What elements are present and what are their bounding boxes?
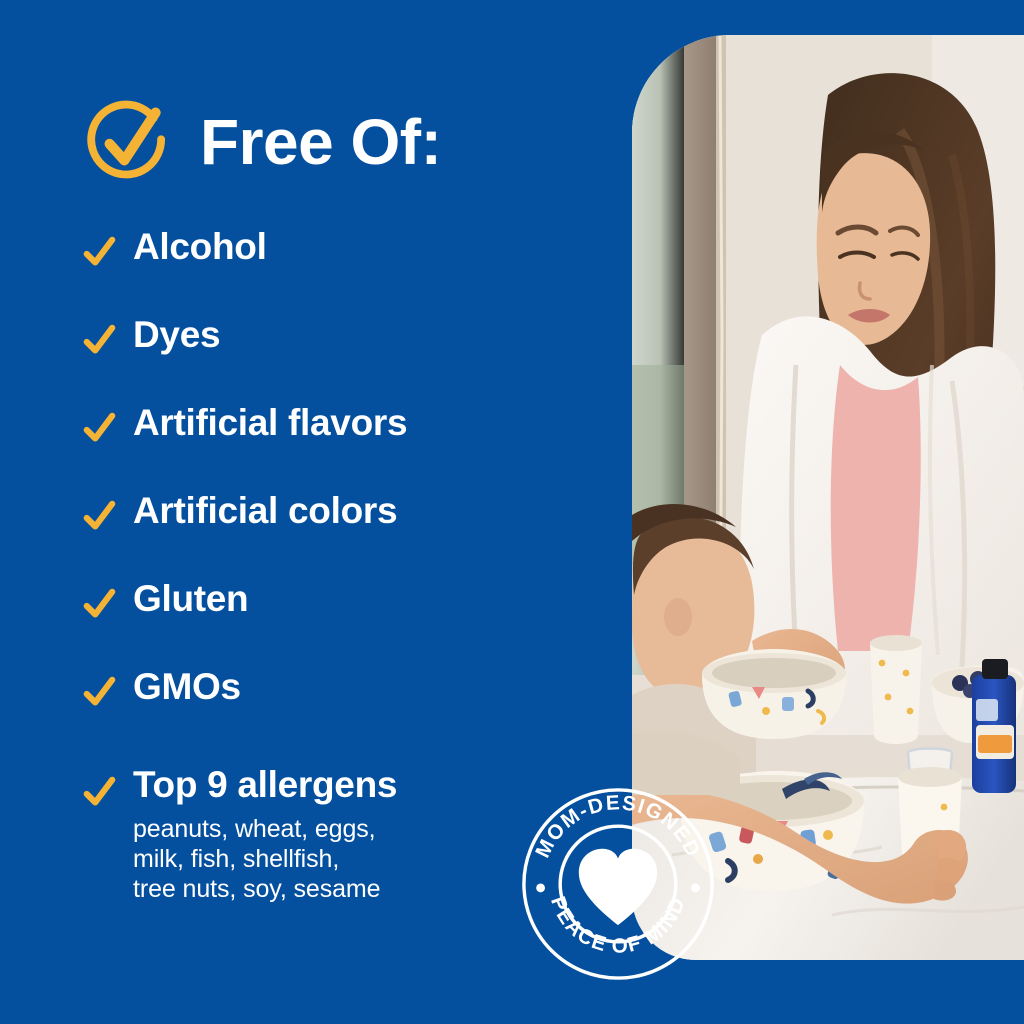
allergens-label: Top 9 allergens: [133, 764, 397, 806]
list-item-label: Artificial flavors: [133, 402, 407, 444]
list-item-label: Dyes: [133, 314, 220, 356]
check-icon: [82, 776, 116, 810]
free-of-list: Alcohol Dyes Artificial flavors Artifici…: [78, 232, 618, 770]
check-icon: [82, 324, 116, 358]
badge-seal: MOM-DESIGNED PEACE OF MIND: [520, 786, 716, 982]
list-item-label: Gluten: [133, 578, 248, 620]
list-item: Artificial flavors: [78, 408, 618, 496]
list-item-label: Artificial colors: [133, 490, 397, 532]
allergens-line: tree nuts, soy, sesame: [133, 874, 563, 904]
list-item: Artificial colors: [78, 496, 618, 584]
mom-designed-badge: MOM-DESIGNED PEACE OF MIND: [520, 786, 716, 982]
badge-separator-dot: [691, 884, 700, 893]
check-icon: [82, 500, 116, 534]
check-icon: [82, 588, 116, 622]
circle-check-icon: [82, 96, 174, 188]
check-icon: [82, 236, 116, 270]
badge-separator-dot: [536, 884, 545, 893]
list-item: Alcohol: [78, 232, 618, 320]
allergens-sublist: peanuts, wheat, eggs, milk, fish, shellf…: [133, 814, 563, 904]
list-item: Gluten: [78, 584, 618, 672]
allergens-line: peanuts, wheat, eggs,: [133, 814, 563, 844]
infographic-canvas: Free Of: Alcohol Dyes Artificial flavors: [0, 0, 1024, 1024]
list-item: Dyes: [78, 320, 618, 408]
page-title: Free Of:: [200, 110, 441, 174]
heart-icon: [579, 849, 657, 925]
page-header: Free Of:: [82, 96, 441, 188]
check-icon: [82, 676, 116, 710]
allergens-line: milk, fish, shellfish,: [133, 844, 563, 874]
list-item-label: GMOs: [133, 666, 241, 708]
list-item: GMOs: [78, 672, 618, 760]
check-icon: [82, 412, 116, 446]
list-item-label: Alcohol: [133, 226, 267, 268]
